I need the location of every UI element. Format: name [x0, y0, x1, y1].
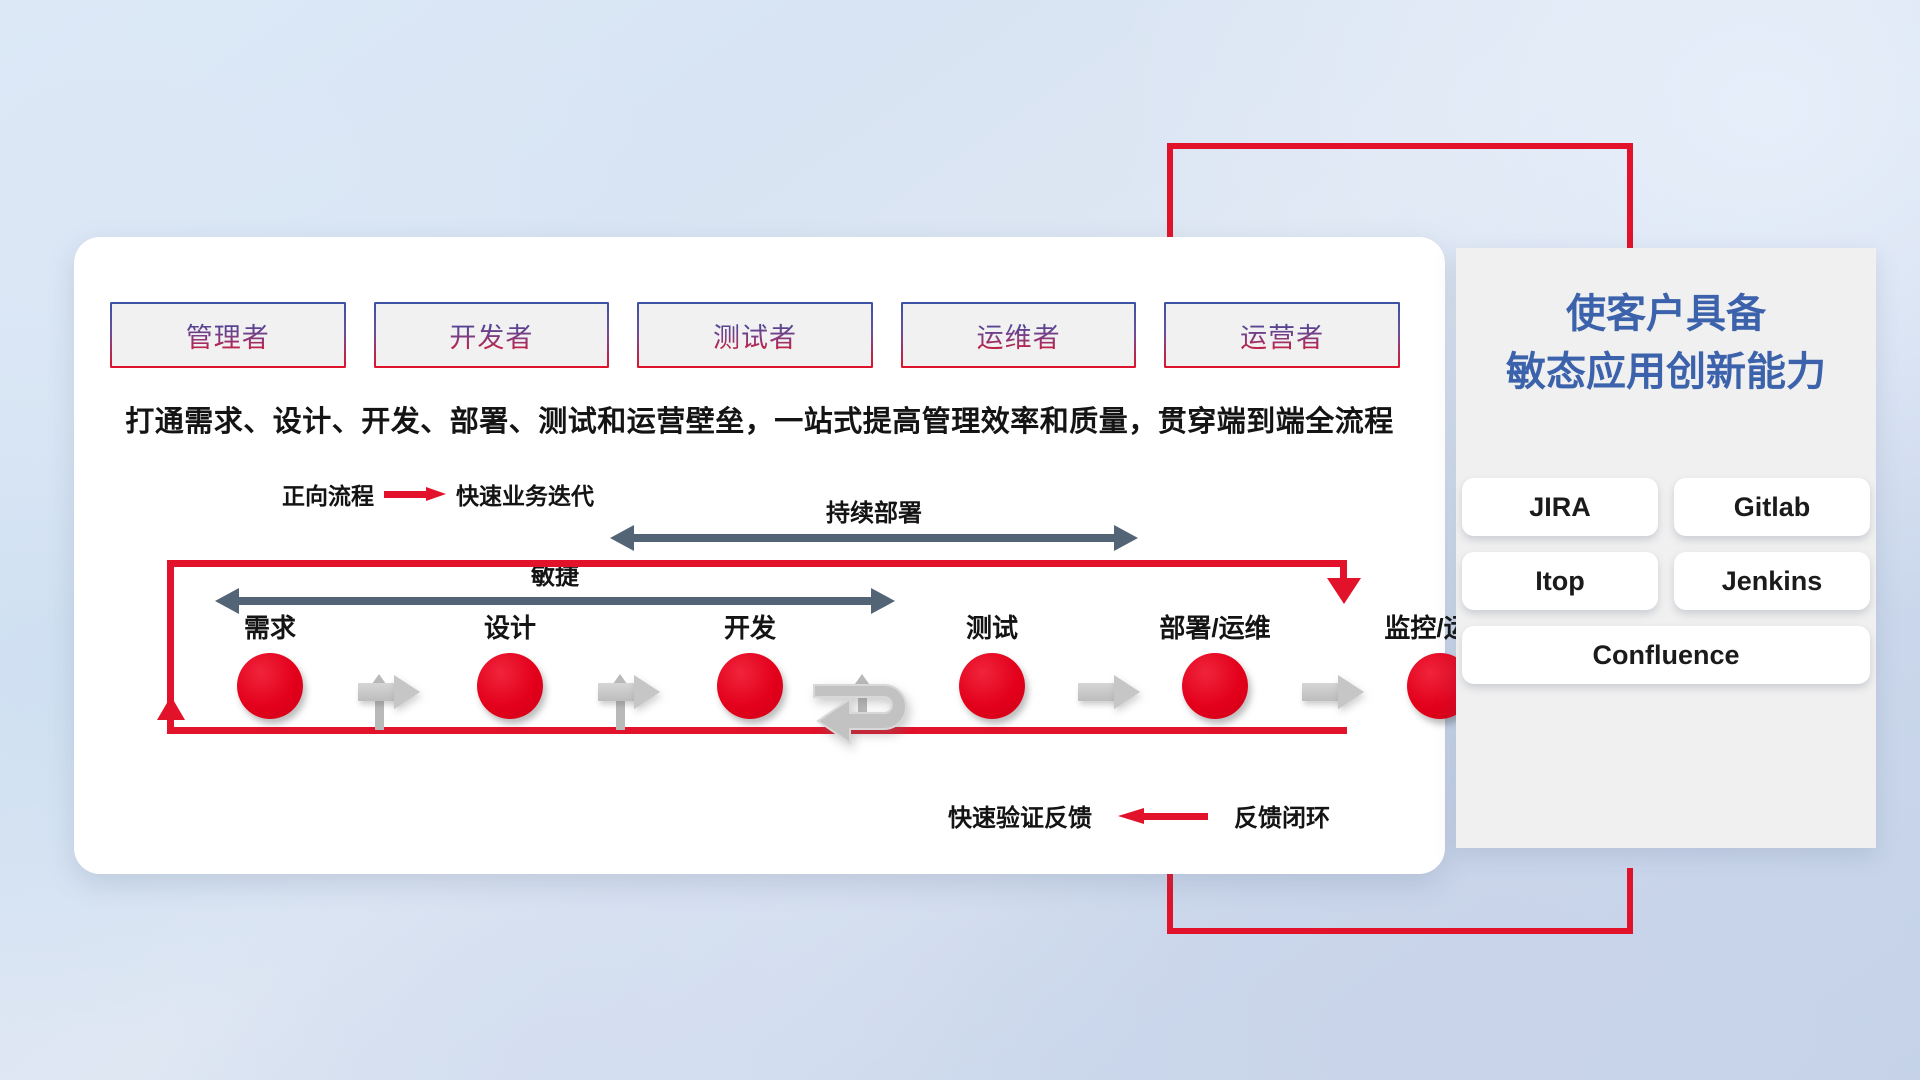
tool-chip-jira[interactable]: JIRA	[1462, 478, 1658, 536]
feedback-loop-top	[167, 560, 1347, 567]
side-panel-title-line2: 敏态应用创新能力	[1456, 343, 1876, 401]
pipeline-node-bubble	[959, 653, 1025, 719]
arrow-right-red-icon	[384, 487, 446, 501]
tool-chip-itop[interactable]: Itop	[1462, 552, 1658, 610]
tool-chip-confluence[interactable]: Confluence	[1462, 626, 1870, 684]
pipeline-node-bubble	[1182, 653, 1248, 719]
pipeline-node-design[interactable]: 设计	[450, 615, 570, 719]
side-panel-title: 使客户具备 敏态应用创新能力	[1456, 285, 1876, 401]
pipeline-node-requirement[interactable]: 需求	[210, 615, 330, 719]
slide-canvas: 管理者 开发者 测试者 运维者 运营者 打通需求、设计、开发、部署、测试和运营壁…	[0, 0, 1920, 1080]
pipeline-arrow-3-icon	[1078, 675, 1140, 709]
pipeline-node-develop[interactable]: 开发	[690, 615, 810, 719]
pipeline-arrow-1-icon	[358, 675, 420, 709]
pipeline-node-test[interactable]: 测试	[932, 615, 1052, 719]
agile-double-arrow-icon	[215, 588, 895, 614]
continuous-deploy-label: 持续部署	[610, 493, 1138, 528]
tool-chip-grid: JIRA Gitlab Itop Jenkins Confluence	[1462, 478, 1870, 684]
pipeline-node-label: 测试	[932, 615, 1052, 641]
bracket-right-bottom-line	[1627, 868, 1633, 934]
pipeline-arrow-2-icon	[598, 675, 660, 709]
role-chip-row: 管理者 开发者 测试者 运维者 运营者	[110, 302, 1400, 368]
tool-chip-jenkins[interactable]: Jenkins	[1674, 552, 1870, 610]
feedback-legend: 快速验证反馈 反馈闭环	[948, 798, 1330, 833]
loop-back-arrow-icon	[810, 669, 922, 761]
role-chip-label: 运营者	[1240, 316, 1324, 355]
pipeline-node-label: 设计	[450, 615, 570, 641]
pipeline-node-bubble	[477, 653, 543, 719]
bracket-left-top-line	[1167, 143, 1173, 251]
bracket-top-line	[1167, 143, 1633, 149]
forward-flow-legend: 正向流程 快速业务迭代	[282, 477, 594, 511]
side-panel-title-line1: 使客户具备	[1456, 285, 1876, 343]
pipeline-node-label: 需求	[210, 615, 330, 641]
pipeline-node-label: 开发	[690, 615, 810, 641]
pipeline-node-bubble	[237, 653, 303, 719]
role-chip-label: 测试者	[713, 316, 797, 355]
role-chip-ops[interactable]: 运维者	[901, 302, 1137, 368]
tool-chip-gitlab[interactable]: Gitlab	[1674, 478, 1870, 536]
feedback-loop-bottom	[167, 727, 1347, 734]
arrow-left-red-icon	[1118, 808, 1208, 824]
role-chip-label: 管理者	[186, 316, 270, 355]
forward-flow-right-label: 快速业务迭代	[456, 477, 594, 511]
role-chip-label: 开发者	[449, 316, 533, 355]
continuous-deploy-double-arrow-icon	[610, 525, 1138, 551]
bracket-bottom-line	[1167, 928, 1633, 934]
role-chip-tester[interactable]: 测试者	[637, 302, 873, 368]
role-chip-manager[interactable]: 管理者	[110, 302, 346, 368]
role-chip-operator[interactable]: 运营者	[1164, 302, 1400, 368]
headline-text: 打通需求、设计、开发、部署、测试和运营壁垒，一站式提高管理效率和质量，贯穿端到端…	[74, 398, 1445, 440]
feedback-right-label: 反馈闭环	[1234, 798, 1330, 833]
pipeline-arrow-4-icon	[1302, 675, 1364, 709]
role-chip-developer[interactable]: 开发者	[374, 302, 610, 368]
pipeline-row: 需求 设计 开发 测试 部署/运维	[110, 615, 1420, 725]
role-chip-label: 运维者	[977, 316, 1061, 355]
feedback-left-label: 快速验证反馈	[948, 798, 1092, 833]
pipeline-node-bubble	[717, 653, 783, 719]
feedback-loop-down-arrow-icon	[1327, 578, 1361, 604]
pipeline-node-label: 部署/运维	[1155, 615, 1275, 641]
pipeline-node-deploy-ops[interactable]: 部署/运维	[1155, 615, 1275, 719]
forward-flow-left-label: 正向流程	[282, 477, 374, 511]
